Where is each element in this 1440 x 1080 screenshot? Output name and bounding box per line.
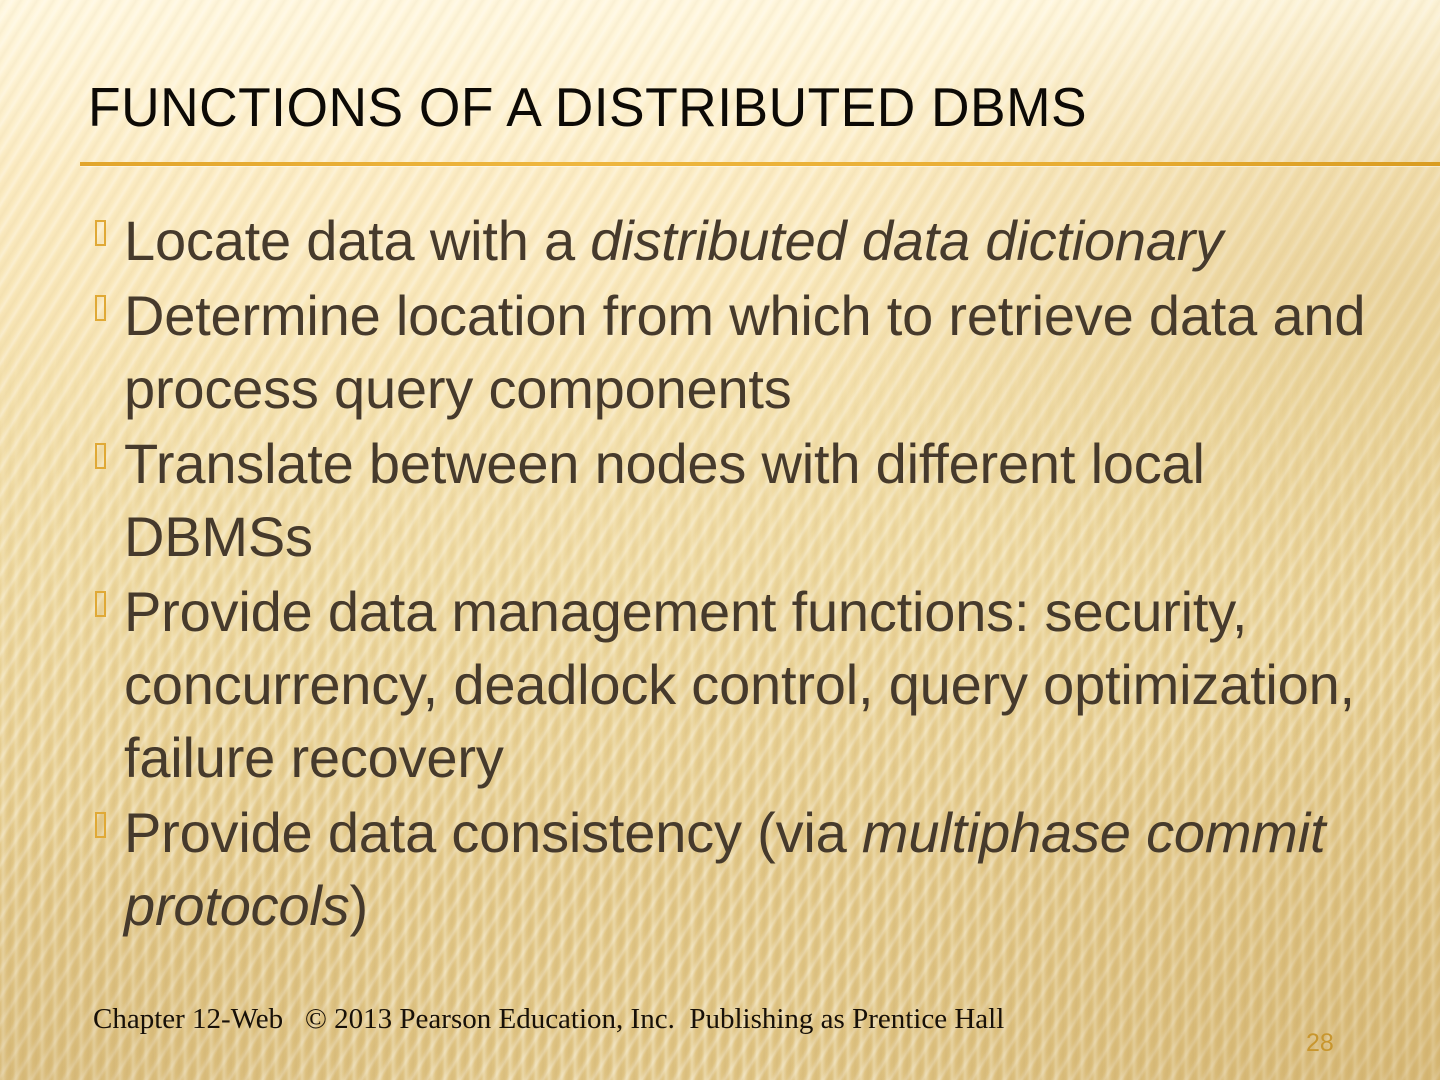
bullet-glyph-icon [88,796,124,843]
bullet-glyph-icon [88,279,124,326]
bullet-glyph-icon [88,575,124,622]
slide-title: FUNCTIONS OF A DISTRIBUTED DBMS [88,76,1349,138]
slide-canvas: FUNCTIONS OF A DISTRIBUTED DBMS Locate d… [0,0,1440,1080]
list-item: Determine location from which to retriev… [88,279,1408,425]
bullet-list: Locate data with a distributed data dict… [88,204,1408,944]
list-item: Provide data management functions: secur… [88,575,1408,794]
bullet-glyph-icon [88,427,124,474]
list-item: Locate data with a distributed data dict… [88,204,1408,277]
list-item: Translate between nodes with different l… [88,427,1408,573]
footer-copyright: Chapter 12-Web © 2013 Pearson Education,… [93,1002,1004,1036]
bullet-glyph-icon [88,204,124,251]
bullet-text-4: Provide data management functions: secur… [124,575,1408,794]
title-divider-rule [80,162,1440,166]
bullet-text-5: Provide data consistency (via multiphase… [124,796,1408,942]
bullet-text-1: Locate data with a distributed data dict… [124,204,1408,277]
page-number: 28 [1306,1028,1334,1058]
bullet-text-2: Determine location from which to retriev… [124,279,1408,425]
list-item: Provide data consistency (via multiphase… [88,796,1408,942]
bullet-text-3: Translate between nodes with different l… [124,427,1408,573]
